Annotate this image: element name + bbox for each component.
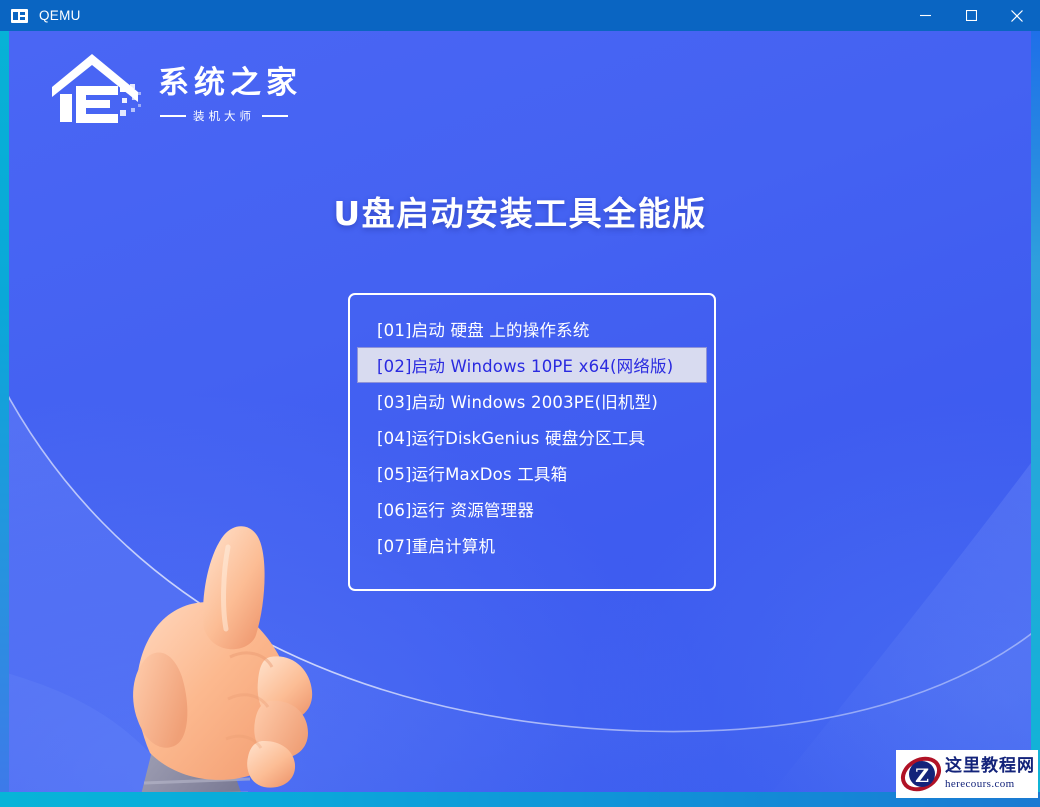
brand-text-block: 系统之家 装机大师 <box>158 68 302 128</box>
boot-menu-item-04[interactable]: [04]运行DiskGenius 硬盘分区工具 <box>357 419 707 455</box>
boot-menu-item-05[interactable]: [05]运行MaxDos 工具箱 <box>357 455 707 491</box>
brand-name: 系统之家 <box>158 68 302 99</box>
screen-edge-bottom <box>0 792 1040 807</box>
brand-logo: 系统之家 装机大师 <box>46 48 302 128</box>
close-icon[interactable] <box>994 0 1040 31</box>
house-chip-logo <box>46 48 144 128</box>
brand-tagline-row: 装机大师 <box>158 108 302 124</box>
tagline-dash-left <box>160 115 186 117</box>
screen-edge-left <box>0 31 9 807</box>
watermark-text-block: 这里教程网 herecours.com <box>945 758 1035 790</box>
title-bar-left: QEMU <box>0 8 902 23</box>
boot-menu-item-02[interactable]: [02]启动 Windows 10PE x64(网络版) <box>357 347 707 383</box>
boot-menu-item-03[interactable]: [03]启动 Windows 2003PE(旧机型) <box>357 383 707 419</box>
window-controls <box>902 0 1040 31</box>
window-title: QEMU <box>39 8 81 23</box>
boot-menu-item-01[interactable]: [01]启动 硬盘 上的操作系统 <box>357 311 707 347</box>
watermark-badge-letter: Z <box>915 765 929 787</box>
page-title: U盘启动安装工具全能版 <box>0 187 1040 235</box>
minimize-icon[interactable] <box>902 0 948 31</box>
watermark-badge-icon: Z <box>900 753 942 795</box>
qemu-window: QEMU <box>0 0 1040 807</box>
qemu-monitor-icon <box>11 9 28 23</box>
title-bar[interactable]: QEMU <box>0 0 1040 31</box>
brand-tagline: 装机大师 <box>193 108 255 124</box>
vm-display[interactable]: 系统之家 装机大师 U盘启动安装工具全能版 [01]启动 硬盘 上的操作系统 [… <box>0 31 1040 807</box>
screen-edge-right <box>1031 31 1040 807</box>
watermark-site-url: herecours.com <box>945 779 1035 790</box>
pointing-hand-illustration <box>78 507 418 807</box>
watermark-site-name: 这里教程网 <box>945 758 1035 775</box>
site-watermark: Z 这里教程网 herecours.com <box>896 750 1038 798</box>
tagline-dash-right <box>262 115 288 117</box>
maximize-icon[interactable] <box>948 0 994 31</box>
